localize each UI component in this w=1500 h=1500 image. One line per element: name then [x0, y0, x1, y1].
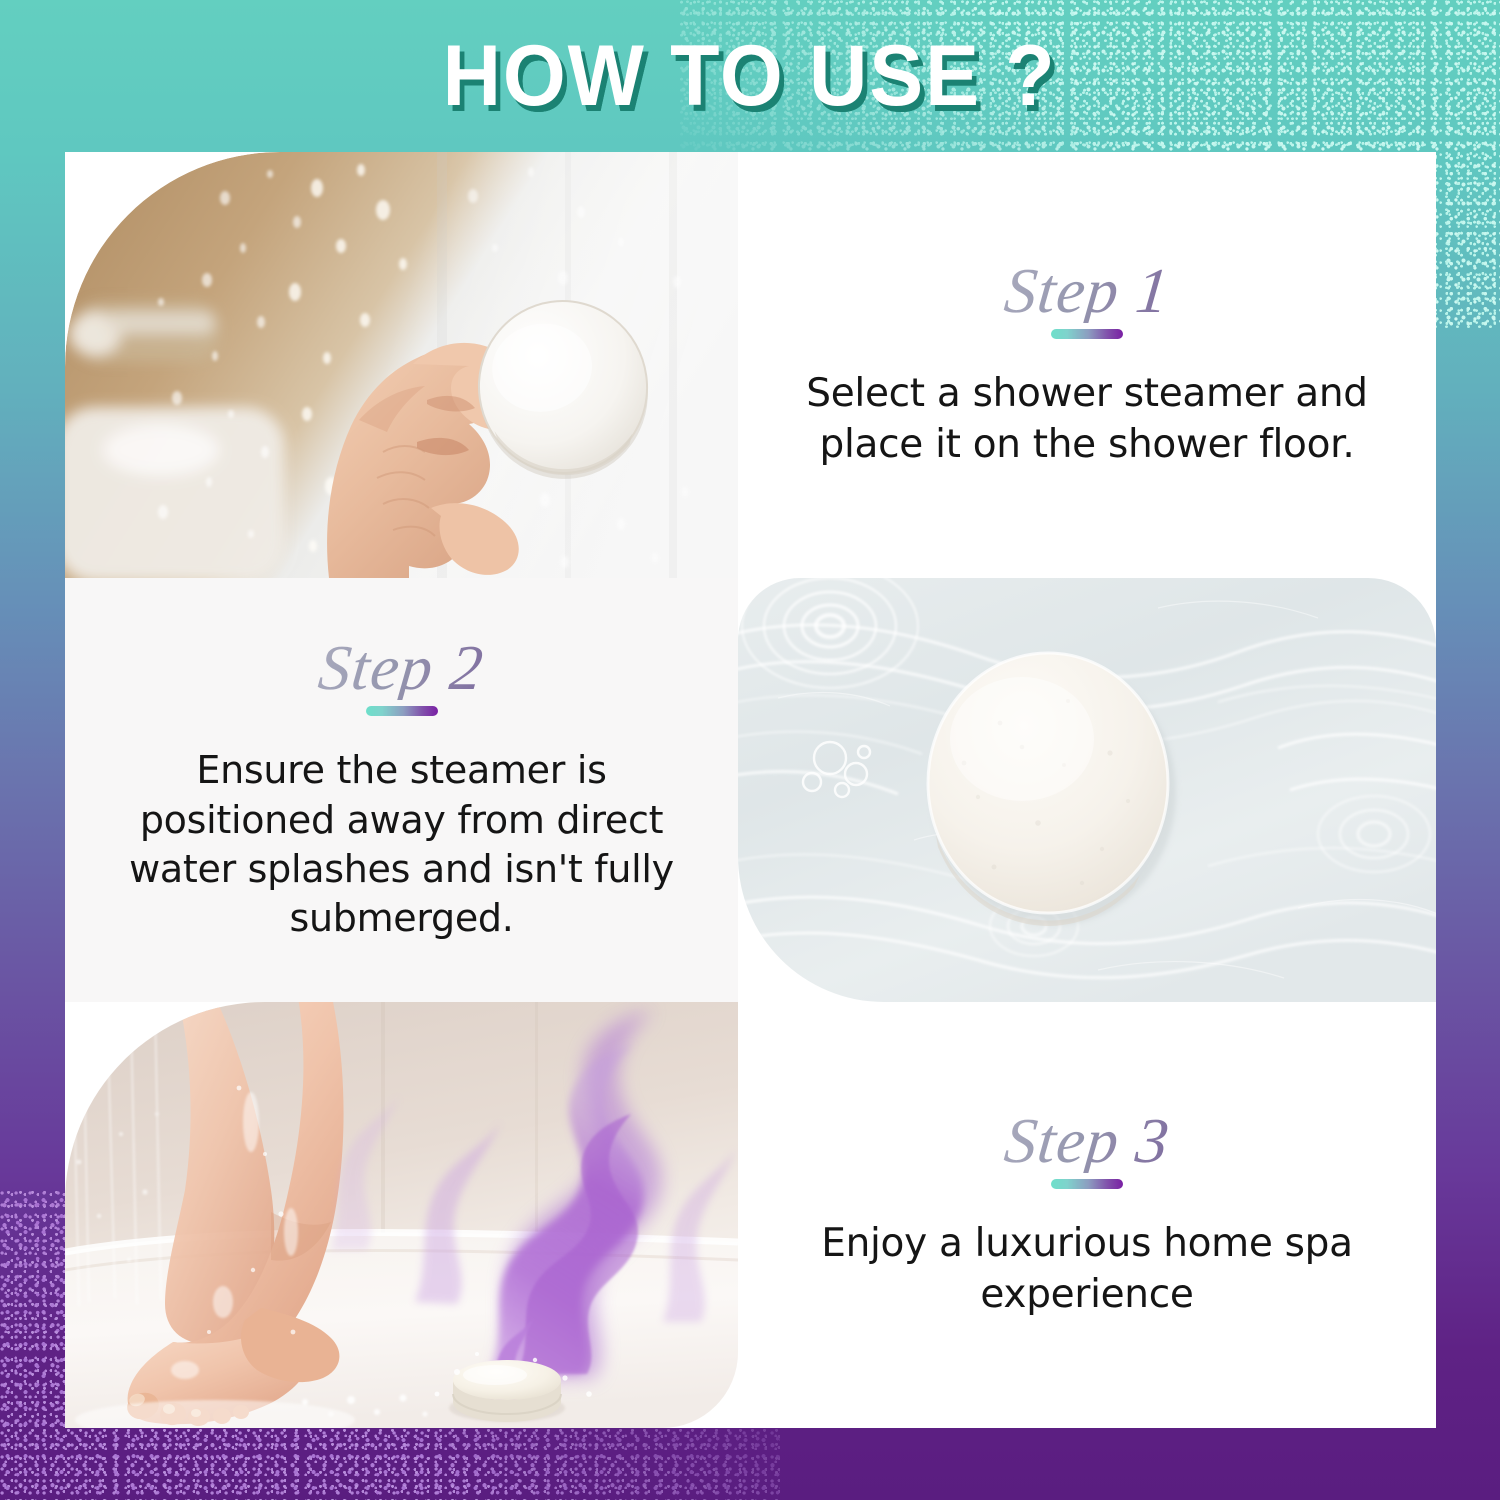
- step-1-underline: [1051, 329, 1123, 339]
- page-title: HOW TO USE ?: [443, 27, 1057, 126]
- step-2-label: Step 2: [316, 636, 487, 700]
- steps-card: Step 1 Select a shower steamer and place…: [65, 152, 1436, 1428]
- step-3-label: Step 3: [1002, 1109, 1173, 1173]
- step-2-underline: [366, 706, 438, 716]
- step-1-label: Step 1: [1002, 259, 1173, 323]
- step-1-text-cell: Step 1 Select a shower steamer and place…: [738, 152, 1436, 578]
- step-3-text-cell: Step 3 Enjoy a luxurious home spa experi…: [738, 1002, 1436, 1428]
- header-banner: HOW TO USE ?: [0, 0, 1500, 152]
- steamer-in-water-illustration: [738, 578, 1436, 1002]
- hand-holding-shower-steamer-illustration: [65, 152, 738, 578]
- step-2-description: Ensure the steamer is positioned away fr…: [119, 746, 684, 944]
- feet-with-purple-steam-illustration: [65, 1002, 738, 1428]
- step-3-description: Enjoy a luxurious home spa experience: [792, 1219, 1382, 1320]
- step-2-image: [738, 578, 1436, 1002]
- step-1-description: Select a shower steamer and place it on …: [792, 369, 1382, 470]
- step-3-image: [65, 1002, 738, 1428]
- step-3-underline: [1051, 1179, 1123, 1189]
- step-2-text-cell: Step 2 Ensure the steamer is positioned …: [65, 578, 738, 1002]
- step-1-image: [65, 152, 738, 578]
